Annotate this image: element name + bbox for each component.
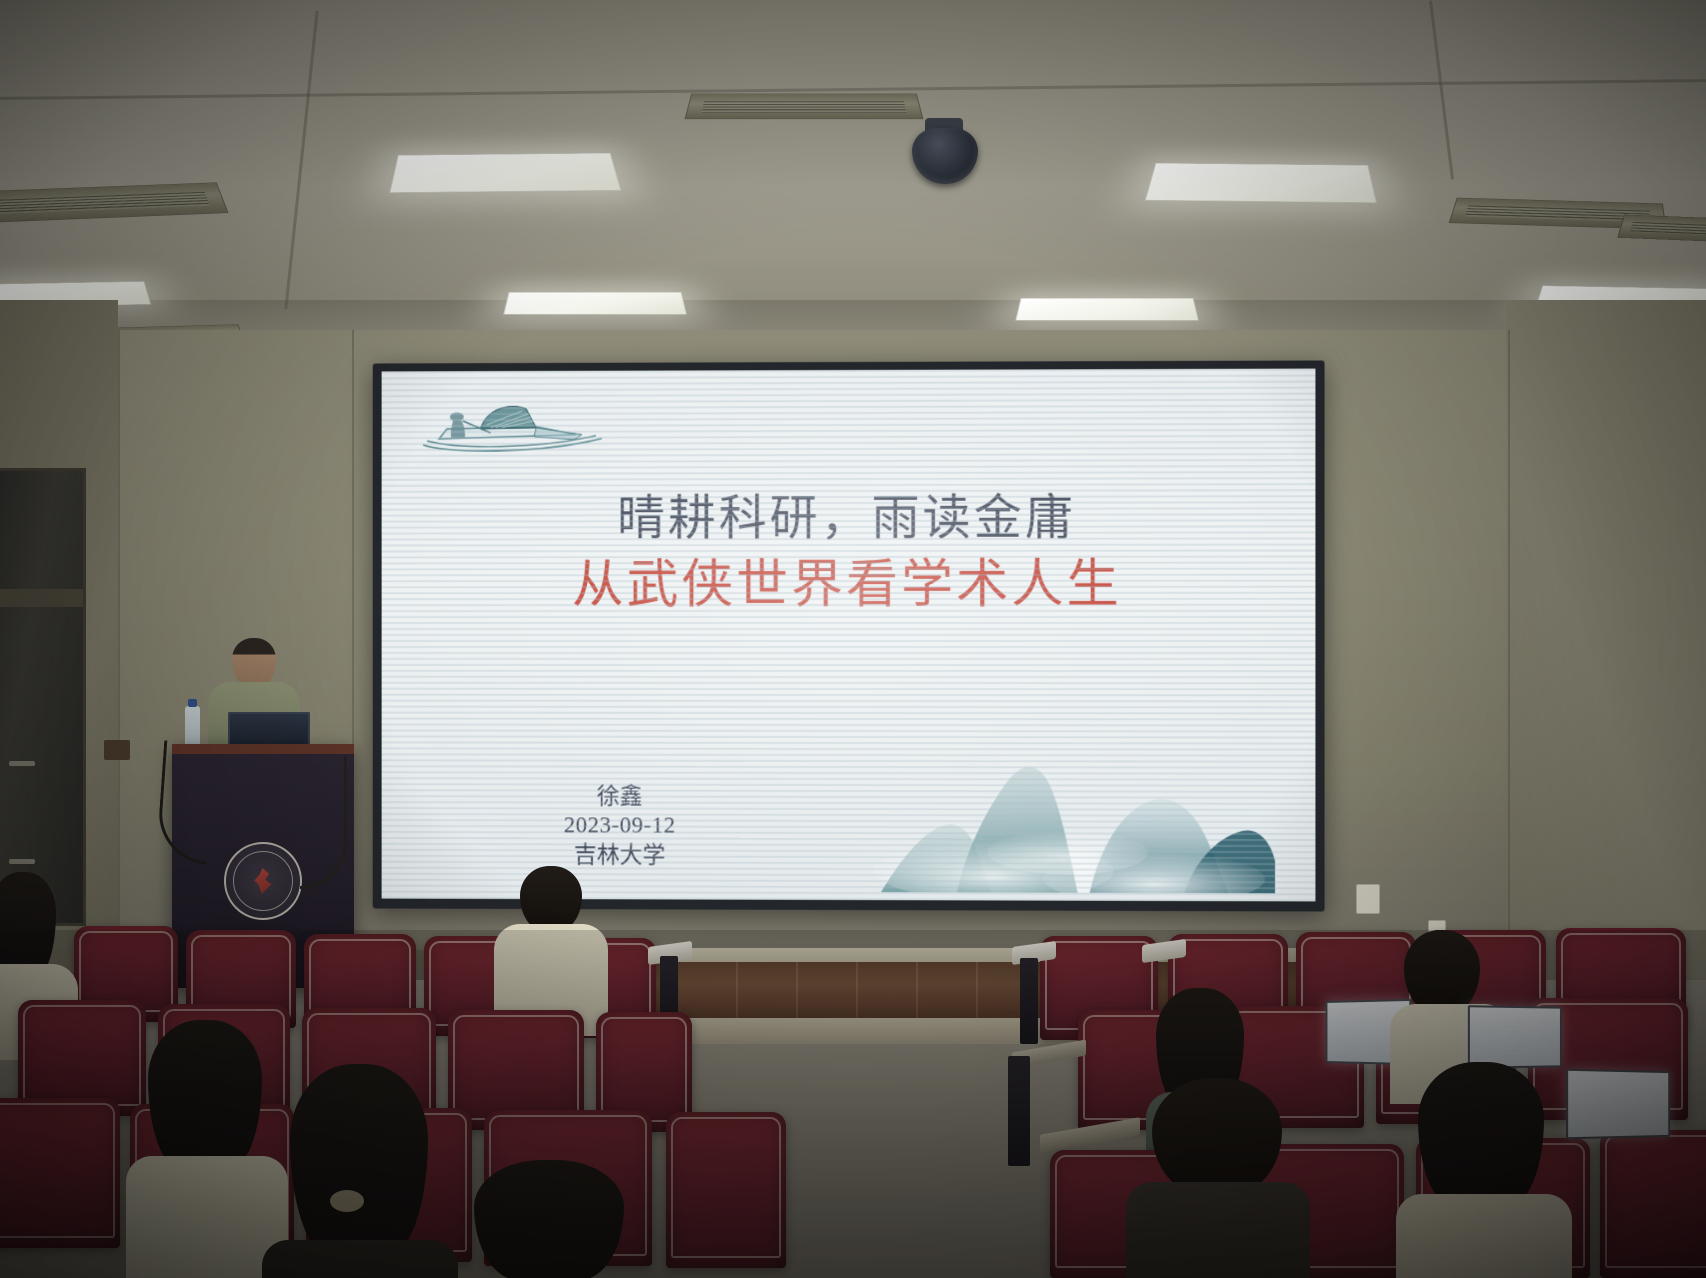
slide-title: 晴耕科研，雨读金庸 <box>382 477 1316 548</box>
person-hair <box>1418 1062 1544 1208</box>
person-torso <box>262 1240 458 1278</box>
auditorium-seat <box>666 1112 786 1268</box>
person-hair <box>474 1160 624 1278</box>
person-hair <box>148 1020 262 1170</box>
ceiling-light <box>503 292 686 314</box>
air-vent <box>685 94 924 119</box>
person-torso <box>1126 1182 1310 1278</box>
audience-laptop <box>1566 1069 1670 1140</box>
side-door[interactable] <box>0 468 86 926</box>
slide-organization: 吉林大学 <box>500 840 739 870</box>
projection-screen-frame: 晴耕科研，雨读金庸 从武侠世界看学术人生 徐鑫 2023-09-12 吉林大学 <box>373 360 1325 911</box>
wall-bracket <box>104 740 130 760</box>
slide-meta-block: 徐鑫 2023-09-12 吉林大学 <box>500 781 739 870</box>
person-hair <box>0 872 56 976</box>
lecture-hall-photo: 晴耕科研，雨读金庸 从武侠世界看学术人生 徐鑫 2023-09-12 吉林大学 <box>0 0 1706 1278</box>
ceiling-light <box>389 153 621 193</box>
slide-presenter-name: 徐鑫 <box>500 781 739 811</box>
person-head <box>1404 930 1480 1014</box>
person-torso <box>1396 1194 1572 1278</box>
ink-boat-illustration <box>417 395 625 465</box>
wall-seam <box>352 330 354 750</box>
auditorium-seat <box>1600 1130 1706 1278</box>
right-wall-panel <box>1506 300 1706 1000</box>
ceiling-light <box>1015 298 1198 320</box>
audience-laptop <box>1468 1005 1562 1069</box>
door-lintel <box>0 589 83 607</box>
person-hair <box>290 1064 428 1256</box>
auditorium-seat <box>0 1098 120 1248</box>
seat-post <box>1008 1056 1030 1166</box>
door-handle[interactable] <box>9 761 35 766</box>
hair-tie <box>330 1190 364 1212</box>
wall-seam <box>1508 330 1510 930</box>
seat-post <box>1020 958 1038 1044</box>
ceiling-light <box>1145 163 1377 203</box>
person-head <box>520 866 582 932</box>
projection-screen: 晴耕科研，雨读金庸 从武侠世界看学术人生 徐鑫 2023-09-12 吉林大学 <box>382 369 1316 902</box>
door-handle[interactable] <box>9 859 35 864</box>
person-head <box>1152 1078 1282 1196</box>
wall-seam <box>118 330 120 940</box>
ink-mountain-illustration <box>853 702 1275 893</box>
university-crest-icon <box>224 842 302 920</box>
wall-outlet[interactable] <box>1356 884 1380 914</box>
slide-subtitle: 从武侠世界看学术人生 <box>382 541 1316 617</box>
speaker-head <box>232 638 276 688</box>
slide-date: 2023-09-12 <box>500 811 739 841</box>
